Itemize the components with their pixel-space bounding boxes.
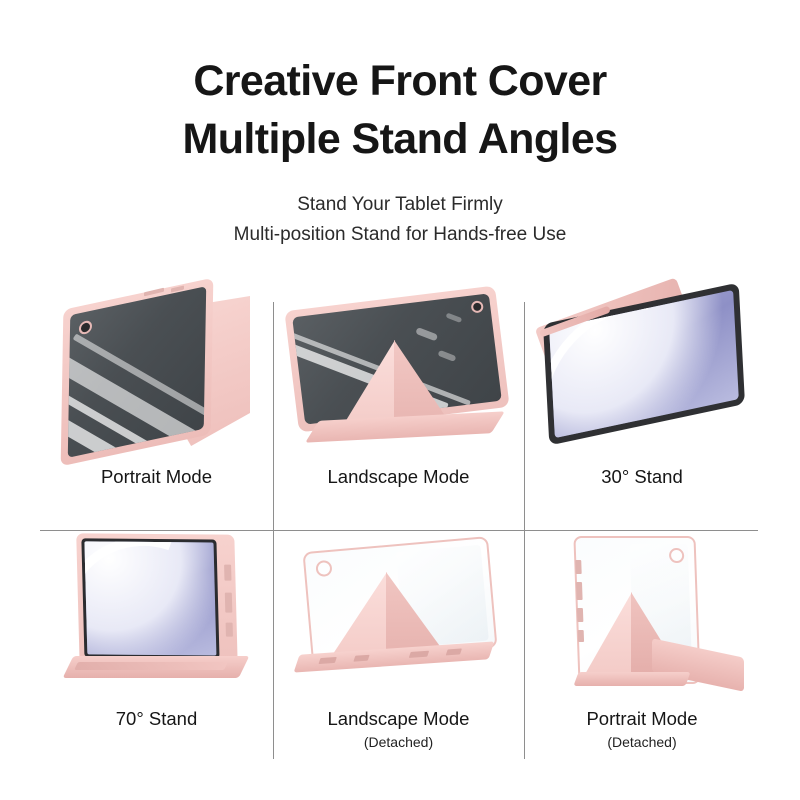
caption-landscape-mode-detached: Landscape Mode (Detached) <box>328 706 470 753</box>
grid-cell-portrait-mode-detached: Portrait Mode (Detached) <box>524 530 760 768</box>
product-photo-stand-70 <box>40 530 273 700</box>
caption-portrait-mode: Portrait Mode <box>101 464 212 490</box>
caption-portrait-mode-detached: Portrait Mode (Detached) <box>586 706 697 753</box>
caption-label: 70° Stand <box>116 706 197 732</box>
feature-grid: Portrait Mode <box>40 288 760 768</box>
caption-landscape-mode: Landscape Mode <box>328 464 470 490</box>
page-title-line-2: Multiple Stand Angles <box>0 110 800 168</box>
product-photo-landscape-mode <box>273 288 524 458</box>
tablet-frame <box>76 533 238 668</box>
caption-label: 30° Stand <box>601 464 682 490</box>
tablet-frame <box>61 278 214 467</box>
grid-cell-landscape-mode-detached: Landscape Mode (Detached) <box>273 530 524 768</box>
tablet-back-glass <box>68 286 206 458</box>
header: Creative Front Cover Multiple Stand Angl… <box>0 0 800 250</box>
caption-label: Landscape Mode <box>328 464 470 490</box>
subtitle-line-2: Multi-position Stand for Hands-free Use <box>0 220 800 250</box>
tablet-screen-wallpaper <box>84 541 216 655</box>
grid-cell-stand-30: 30° Stand <box>524 288 760 530</box>
product-photo-portrait-detached <box>524 530 760 700</box>
caption-label: Portrait Mode <box>586 706 697 732</box>
tablet-bezel <box>81 538 219 658</box>
caption-stand-30: 30° Stand <box>601 464 682 490</box>
grid-cell-stand-70: 70° Stand <box>40 530 273 768</box>
product-photo-stand-30 <box>524 288 760 458</box>
caption-sublabel: (Detached) <box>328 732 470 753</box>
grid-cell-portrait-mode: Portrait Mode <box>40 288 273 530</box>
subtitle-line-1: Stand Your Tablet Firmly <box>0 190 800 220</box>
case-bottom-rail <box>573 672 690 686</box>
caption-label: Portrait Mode <box>101 464 212 490</box>
grid-cell-landscape-mode: Landscape Mode <box>273 288 524 530</box>
product-feature-page: Creative Front Cover Multiple Stand Angl… <box>0 0 800 800</box>
tablet-frame <box>543 283 745 446</box>
caption-sublabel: (Detached) <box>586 732 697 753</box>
product-photo-landscape-detached <box>273 530 524 700</box>
subtitle-block: Stand Your Tablet Firmly Multi-position … <box>0 190 800 250</box>
caption-label: Landscape Mode <box>328 706 470 732</box>
camera-cutout-icon <box>315 560 332 577</box>
camera-cutout-icon <box>669 548 685 563</box>
page-title-line-1: Creative Front Cover <box>0 52 800 110</box>
caption-stand-70: 70° Stand <box>116 706 197 732</box>
product-photo-portrait-mode <box>40 288 273 458</box>
cover-base-shadow <box>74 662 228 670</box>
